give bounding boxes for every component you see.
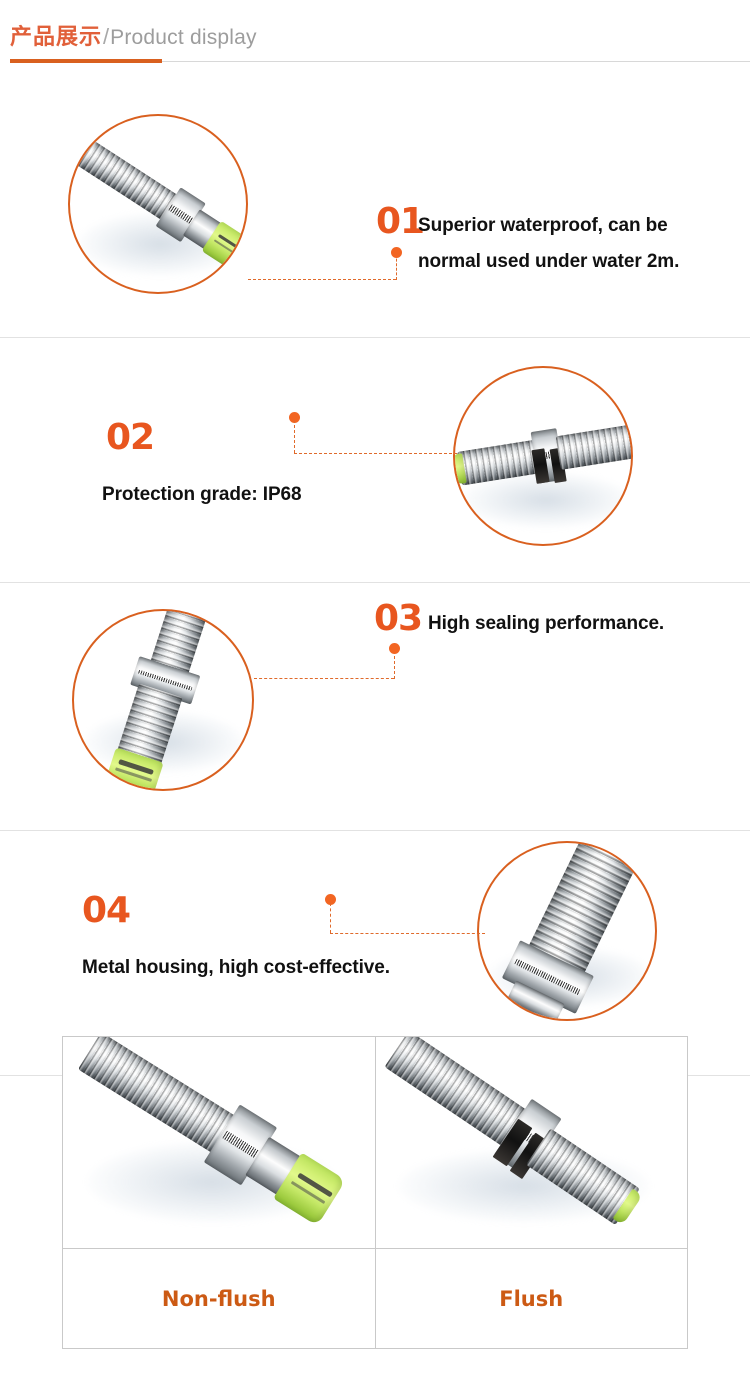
feature-03-photo-inner: [74, 611, 252, 789]
page-header: 产品展示 / Product display: [0, 0, 750, 72]
feature-03-connector-vertical: [394, 651, 395, 679]
sensor-illustration: [74, 611, 252, 789]
feature-02-photo: [453, 366, 633, 546]
feature-section-02: 02 Protection grade: IP68: [0, 338, 750, 583]
header-divider-accent: [10, 59, 162, 63]
feature-03-connector-horizontal: [254, 678, 394, 679]
sensor-barrel-rear: [556, 424, 631, 469]
feature-01-photo-inner: [70, 116, 246, 292]
feature-03-connector-dot: [389, 643, 400, 654]
feature-section-03: 03 High sealing performance.: [0, 583, 750, 831]
comparison-table: Non-flush Flush: [62, 1036, 688, 1349]
feature-01-text-line1: Superior waterproof, can be: [418, 211, 668, 240]
feature-01-text-line2: normal used under water 2m.: [418, 247, 679, 276]
page-title-english: Product display: [110, 27, 257, 48]
feature-04-text-line1: Metal housing, high cost-effective.: [82, 953, 390, 982]
table-row-images: [63, 1037, 688, 1249]
comparison-section: Non-flush Flush: [62, 1036, 688, 1348]
feature-04-connector-vertical: [330, 903, 331, 933]
feature-04-photo-inner: [479, 843, 655, 1019]
sensor-illustration: [70, 116, 246, 292]
sensor-label-text: [291, 1181, 325, 1204]
feature-03-text-line1: High sealing performance.: [428, 609, 664, 638]
feature-02-number: 02: [106, 420, 154, 456]
feature-01-number: 01: [376, 204, 424, 240]
feature-04-connector-horizontal: [330, 933, 485, 934]
sensor-illustration-flush: [375, 1037, 687, 1249]
feature-02-text-line1: Protection grade: IP68: [102, 480, 301, 509]
sensor-label-mark: [297, 1173, 332, 1198]
feature-01-connector-horizontal: [248, 279, 396, 280]
page-title-chinese: 产品展示: [10, 27, 102, 49]
feature-02-connector-vertical: [294, 420, 295, 453]
feature-section-01: 01 Superior waterproof, can be normal us…: [0, 72, 750, 338]
feature-04-number: 04: [82, 893, 130, 929]
feature-01-photo: [68, 114, 248, 294]
sensor-illustration: [479, 843, 655, 1019]
feature-01-connector-dot: [391, 247, 402, 258]
comparison-label-flush: Flush: [375, 1249, 688, 1349]
comparison-cell-image-flush: [375, 1037, 688, 1249]
feature-03-photo: [72, 609, 254, 791]
feature-04-photo: [477, 841, 657, 1021]
feature-02-connector-horizontal: [294, 453, 457, 454]
feature-03-number: 03: [374, 601, 422, 637]
comparison-cell-image-non-flush: [63, 1037, 376, 1249]
comparison-label-non-flush: Non-flush: [63, 1249, 376, 1349]
page-title-separator: /: [103, 26, 109, 48]
table-row-labels: Non-flush Flush: [63, 1249, 688, 1349]
page-title: 产品展示 / Product display: [10, 26, 750, 49]
sensor-illustration-non-flush: [63, 1037, 375, 1249]
feature-02-photo-inner: [455, 368, 631, 544]
